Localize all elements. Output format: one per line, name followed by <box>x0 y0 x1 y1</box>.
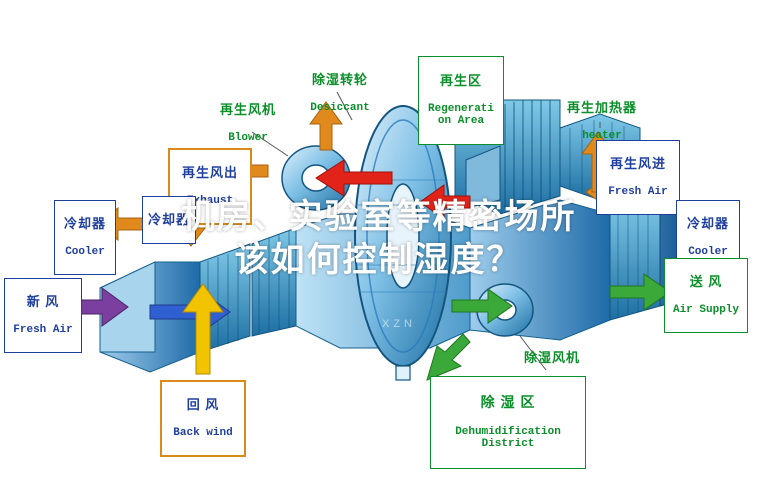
label-desiccant: 除湿转轮 Desiccant <box>288 58 392 129</box>
overlay-headline: 机房、实验室等精密场所 该如何控制湿度？ <box>0 196 757 282</box>
watermark: XZN <box>382 318 416 330</box>
label-back-wind: 回 风 Back wind <box>160 380 246 457</box>
label-regeneration-area: 再生区 Regenerati on Area <box>418 56 504 145</box>
headline-line-1: 机房、实验室等精密场所 <box>181 197 577 237</box>
label-fresh-air: 新 风 Fresh Air <box>4 278 82 353</box>
headline-line-2: 该如何控制湿度？ <box>0 239 757 282</box>
label-dehumidification-district: 除 湿 区 Dehumidification District <box>430 376 586 469</box>
diagram-canvas: 除湿转轮 Desiccant 再生区 Regenerati on Area 再生… <box>0 0 757 488</box>
